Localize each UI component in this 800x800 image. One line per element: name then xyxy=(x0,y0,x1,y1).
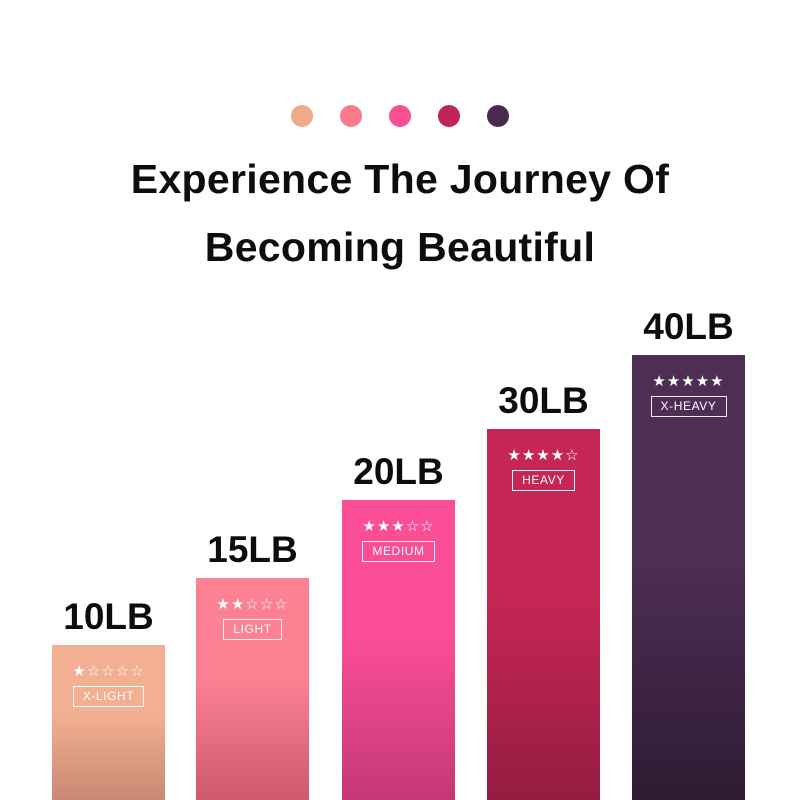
bar-30lb-level-badge: HEAVY xyxy=(512,470,575,491)
bar-15lb-info: ★★☆☆☆LIGHT xyxy=(196,596,309,640)
bar-20lb[interactable]: 20LB★★★☆☆MEDIUM xyxy=(342,500,455,800)
bar-10lb-weight-label: 10LB xyxy=(63,597,153,637)
resistance-bar-chart: 10LB★☆☆☆☆X-LIGHT15LB★★☆☆☆LIGHT20LB★★★☆☆M… xyxy=(0,0,800,800)
bar-30lb-info: ★★★★☆HEAVY xyxy=(487,447,600,491)
bar-10lb-level-badge: X-LIGHT xyxy=(73,686,145,707)
bar-20lb-weight-label: 20LB xyxy=(353,452,443,492)
bar-40lb-column xyxy=(632,355,745,800)
bar-40lb-info: ★★★★★X-HEAVY xyxy=(632,373,745,417)
bar-30lb-weight-label: 30LB xyxy=(498,381,588,421)
promo-banner: Experience The Journey Of Becoming Beaut… xyxy=(0,0,800,800)
bar-15lb-level-badge: LIGHT xyxy=(223,619,281,640)
bar-20lb-level-badge: MEDIUM xyxy=(362,541,434,562)
bar-20lb-info: ★★★☆☆MEDIUM xyxy=(342,518,455,562)
bar-40lb-weight-label: 40LB xyxy=(643,307,733,347)
bar-20lb-star-rating: ★★★☆☆ xyxy=(342,518,455,535)
bar-15lb-star-rating: ★★☆☆☆ xyxy=(196,596,309,613)
bar-40lb[interactable]: 40LB★★★★★X-HEAVY xyxy=(632,355,745,800)
bar-15lb-weight-label: 15LB xyxy=(207,530,297,570)
bar-10lb-star-rating: ★☆☆☆☆ xyxy=(52,663,165,680)
bar-40lb-level-badge: X-HEAVY xyxy=(651,396,727,417)
bar-10lb[interactable]: 10LB★☆☆☆☆X-LIGHT xyxy=(52,645,165,800)
bar-30lb-star-rating: ★★★★☆ xyxy=(487,447,600,464)
bar-15lb[interactable]: 15LB★★☆☆☆LIGHT xyxy=(196,578,309,800)
bar-40lb-star-rating: ★★★★★ xyxy=(632,373,745,390)
bar-30lb[interactable]: 30LB★★★★☆HEAVY xyxy=(487,429,600,800)
bar-10lb-info: ★☆☆☆☆X-LIGHT xyxy=(52,663,165,707)
